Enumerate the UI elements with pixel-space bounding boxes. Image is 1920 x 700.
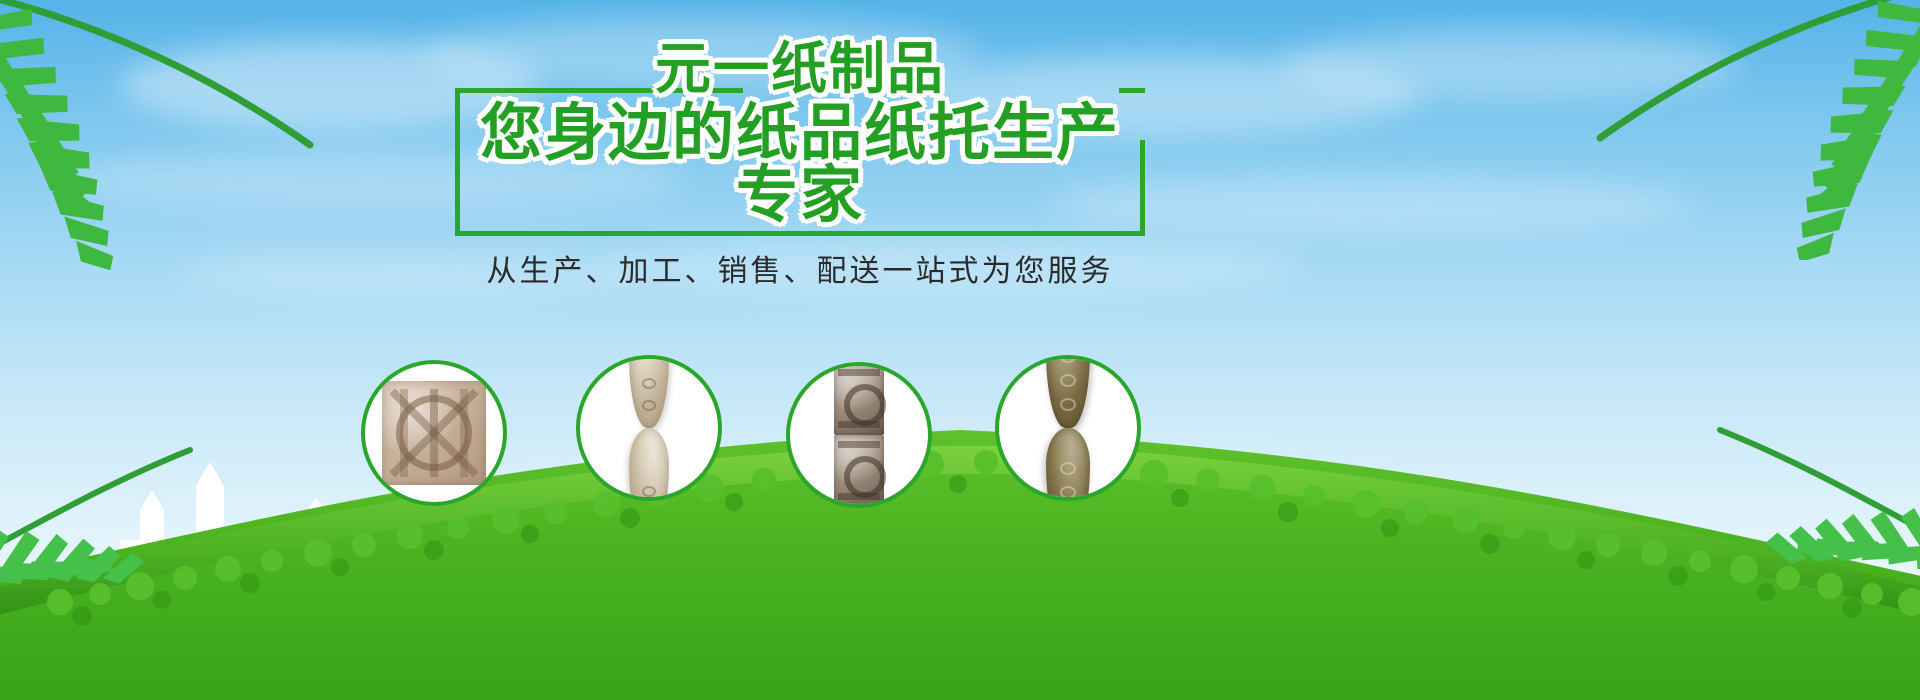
paper-pulp-double-tray-icon bbox=[834, 363, 884, 507]
paper-pulp-square-tray-icon bbox=[382, 381, 486, 485]
tray-cross-detail bbox=[382, 381, 486, 485]
tray-half-left bbox=[834, 363, 884, 435]
subtitle: 从生产、加工、销售、配送一站式为您服务 bbox=[455, 246, 1145, 290]
frame-line-bottom bbox=[455, 231, 1145, 236]
shoe-tree-right bbox=[1046, 428, 1090, 501]
headline-line-2: 您身边的纸品纸托生产专家 bbox=[455, 102, 1145, 226]
product-circle-4[interactable] bbox=[995, 355, 1141, 501]
insole-right bbox=[629, 428, 669, 501]
headline-frame: 元一纸制品 您身边的纸品纸托生产专家 bbox=[455, 88, 1145, 236]
headline-block: 元一纸制品 您身边的纸品纸托生产专家 从生产、加工、销售、配送一站式为您服务 bbox=[455, 88, 1145, 236]
headline: 元一纸制品 您身边的纸品纸托生产专家 bbox=[455, 42, 1145, 226]
insole-left bbox=[629, 355, 669, 428]
product-circle-3[interactable] bbox=[786, 362, 932, 508]
tray-half-right bbox=[834, 435, 884, 507]
promo-banner: 元一纸制品 您身边的纸品纸托生产专家 从生产、加工、销售、配送一站式为您服务 bbox=[0, 0, 1920, 700]
product-circle-1[interactable] bbox=[361, 360, 507, 506]
headline-line-1: 元一纸制品 bbox=[455, 42, 1145, 98]
shoe-tree-left bbox=[1046, 355, 1090, 428]
paper-pulp-shoe-tree-pair-icon bbox=[1046, 355, 1090, 501]
product-circle-2[interactable] bbox=[576, 355, 722, 501]
paper-pulp-insole-pair-icon bbox=[629, 355, 669, 501]
